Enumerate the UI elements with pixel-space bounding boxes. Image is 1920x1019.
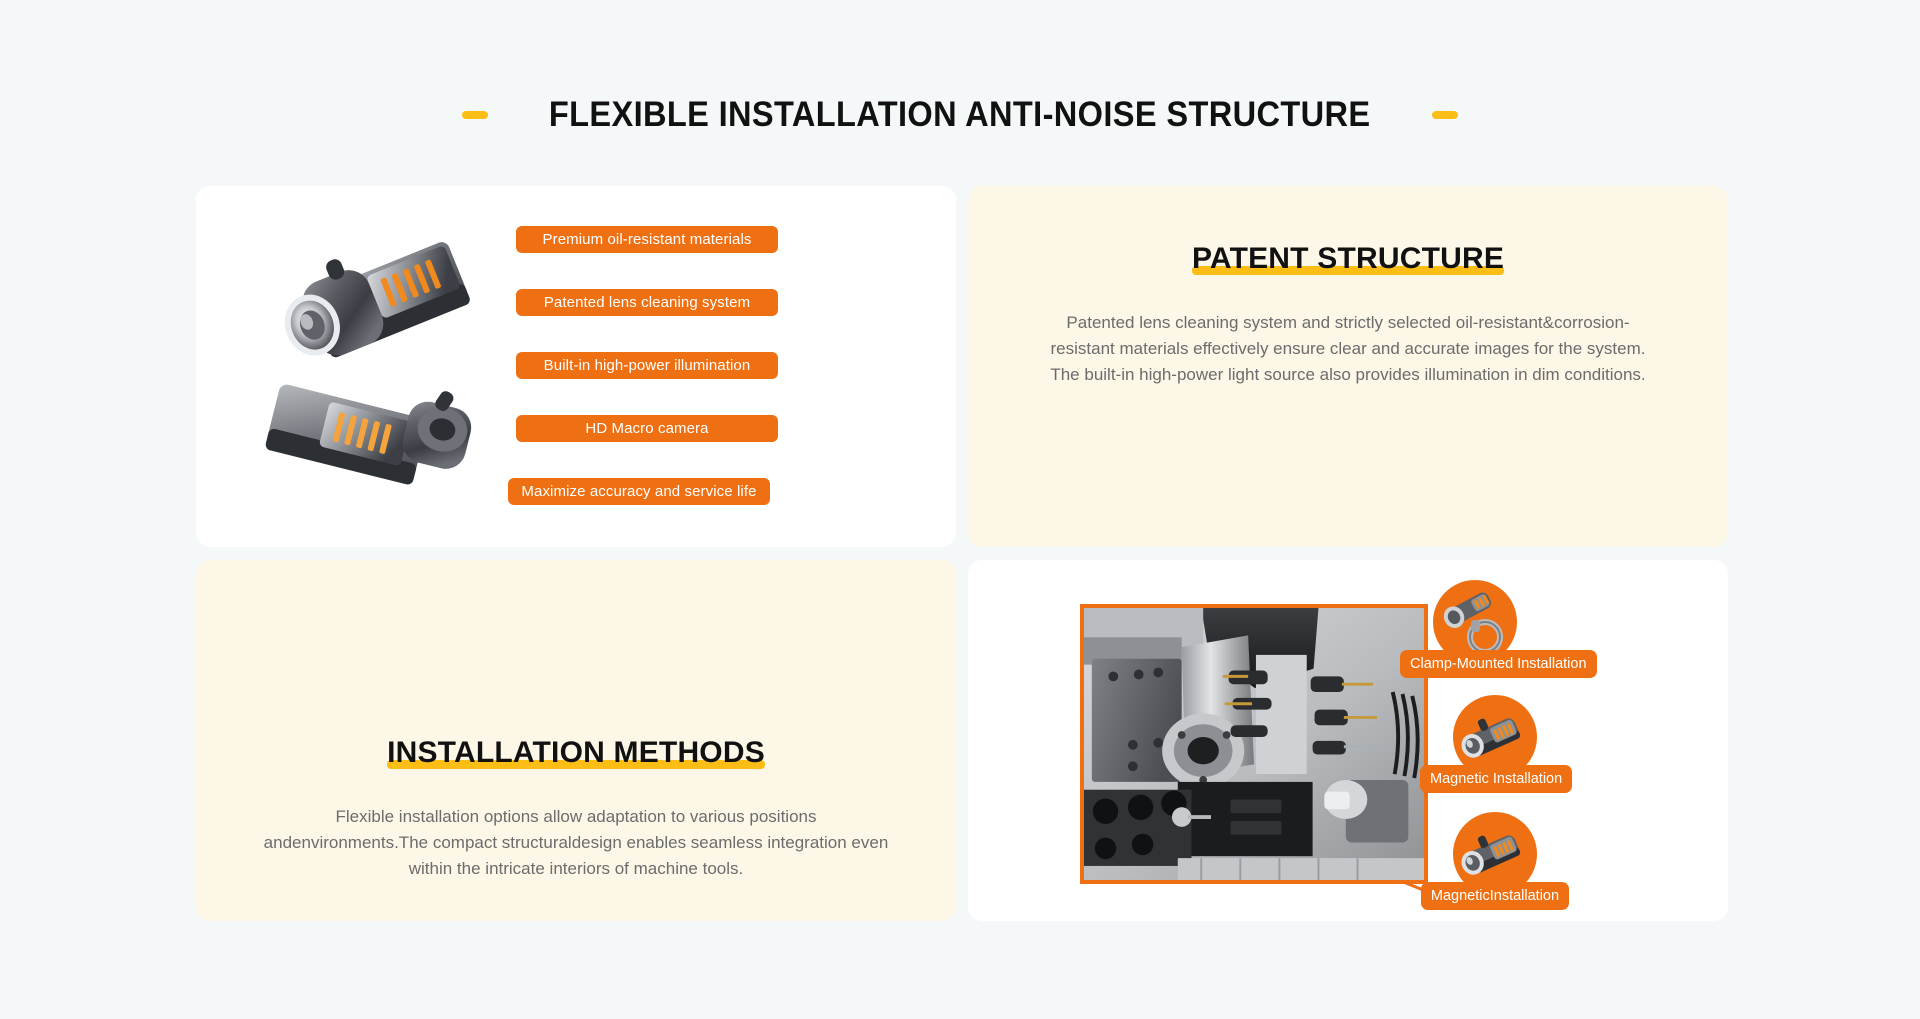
feature-label: Maximize accuracy and service life <box>508 478 770 505</box>
title-dash-left-icon <box>462 111 488 119</box>
installation-methods-card: INSTALLATION METHODS Flexible installati… <box>196 560 956 921</box>
page-title-row: FLEXIBLE INSTALLATION ANTI-NOISE STRUCTU… <box>0 95 1920 135</box>
mount-option-label: Clamp-Mounted Installation <box>1400 650 1597 678</box>
mount-option-item: Magnetic Installation <box>1420 695 1570 793</box>
installation-methods-body: Flexible installation options allow adap… <box>261 804 891 881</box>
installation-methods-heading: INSTALLATION METHODS <box>387 736 765 770</box>
industrial-camera-devices-image <box>248 216 548 516</box>
mount-option-item: Clamp-Mounted Installation <box>1400 580 1550 678</box>
patent-structure-body: Patented lens cleaning system and strict… <box>1048 310 1648 387</box>
cnc-lathe-machine-interior-image <box>1084 608 1424 882</box>
infographic-page: FLEXIBLE INSTALLATION ANTI-NOISE STRUCTU… <box>0 0 1920 1019</box>
mounting-options-card: Clamp-Mounted Installation <box>968 560 1728 921</box>
mount-option-label: Magnetic Installation <box>1420 765 1572 793</box>
mount-option-item: MagneticInstallation <box>1420 812 1570 910</box>
feature-label: HD Macro camera <box>516 415 778 442</box>
features-card: Premium oil-resistant materials Patented… <box>196 186 956 547</box>
feature-label: Patented lens cleaning system <box>516 289 778 316</box>
feature-label: Built-in high-power illumination <box>516 352 778 379</box>
patent-structure-heading: PATENT STRUCTURE <box>1192 242 1504 276</box>
title-dash-right-icon <box>1432 111 1458 119</box>
mount-option-label: MagneticInstallation <box>1421 882 1569 910</box>
machine-photo-frame <box>1080 604 1428 884</box>
page-title: FLEXIBLE INSTALLATION ANTI-NOISE STRUCTU… <box>549 95 1371 135</box>
feature-label: Premium oil-resistant materials <box>516 226 778 253</box>
feature-label-list: Premium oil-resistant materials Patented… <box>508 226 828 505</box>
patent-structure-card: PATENT STRUCTURE Patented lens cleaning … <box>968 186 1728 547</box>
